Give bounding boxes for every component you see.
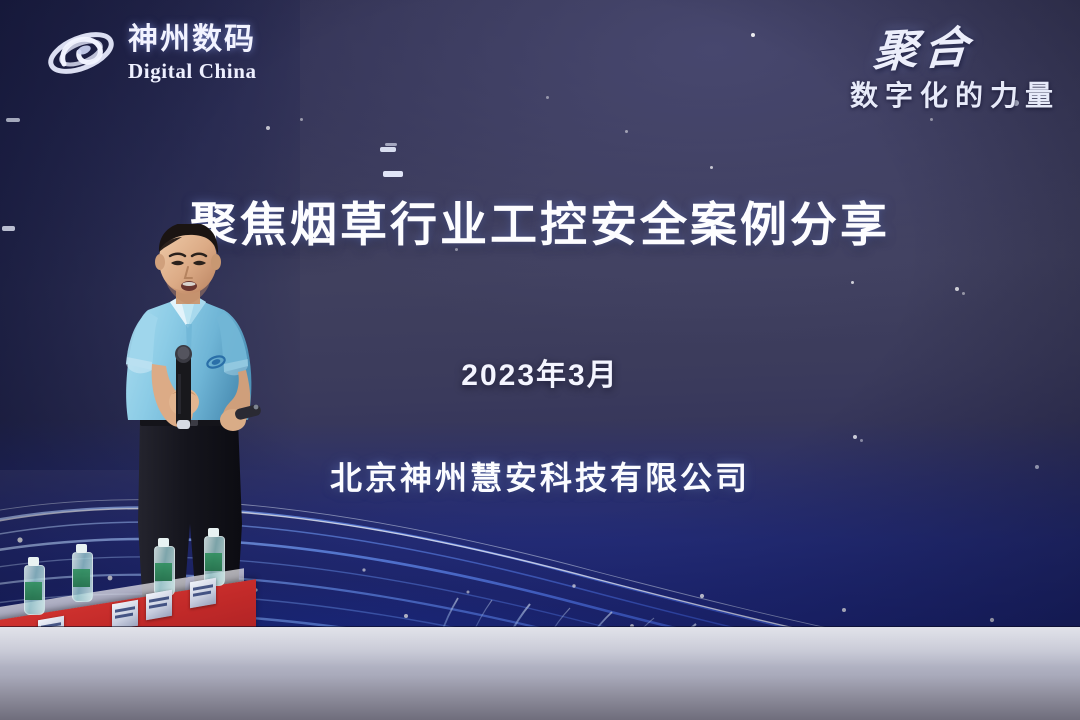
microphone-icon (175, 345, 192, 429)
stage-photo: 神州数码 Digital China 聚合 数字化的力量 聚焦烟草行业工控安全案… (0, 0, 1080, 720)
stage-floor-highlight (0, 627, 1080, 667)
name-card (190, 578, 216, 609)
event-tagline: 数字化的力量 (850, 74, 1060, 114)
water-bottle (154, 546, 175, 596)
name-card (146, 590, 172, 621)
event-calligraphy: 聚合 (847, 11, 976, 81)
brand-name-cn: 神州数码 (128, 25, 257, 55)
water-bottle (24, 565, 45, 615)
digital-china-swirl-icon (44, 20, 118, 86)
digital-china-logo: 神州数码 Digital China (44, 20, 257, 86)
event-logo: 聚合 数字化的力量 (850, 14, 1060, 114)
water-bottle (72, 552, 93, 602)
brand-name-en: Digital China (128, 61, 257, 82)
